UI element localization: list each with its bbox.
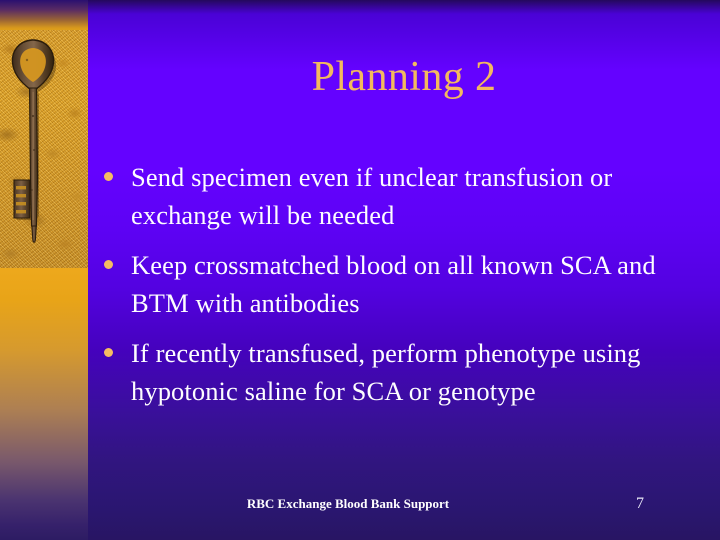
bullet-text: If recently transfused, perform phenotyp… [131, 334, 712, 410]
bullet-marker-icon [104, 260, 113, 269]
key-on-sand-photo [0, 30, 88, 268]
antique-key-icon [0, 30, 88, 268]
footer-label: RBC Exchange Blood Bank Support [88, 496, 608, 512]
slide-canvas: Planning 2 Send specimen even if unclear… [0, 0, 720, 540]
slide-page-number: 7 [600, 494, 680, 514]
bullet-item: If recently transfused, perform phenotyp… [104, 334, 712, 410]
bullet-text: Keep crossmatched blood on all known SCA… [131, 246, 712, 322]
slide-title: Planning 2 [88, 52, 720, 102]
bullet-text: Send specimen even if unclear transfusio… [131, 158, 712, 234]
bullet-marker-icon [104, 172, 113, 181]
bullet-item: Send specimen even if unclear transfusio… [104, 158, 712, 234]
bullet-list: Send specimen even if unclear transfusio… [104, 158, 712, 422]
sidebar-decorative-band [0, 0, 88, 540]
bullet-item: Keep crossmatched blood on all known SCA… [104, 246, 712, 322]
bullet-marker-icon [104, 348, 113, 357]
